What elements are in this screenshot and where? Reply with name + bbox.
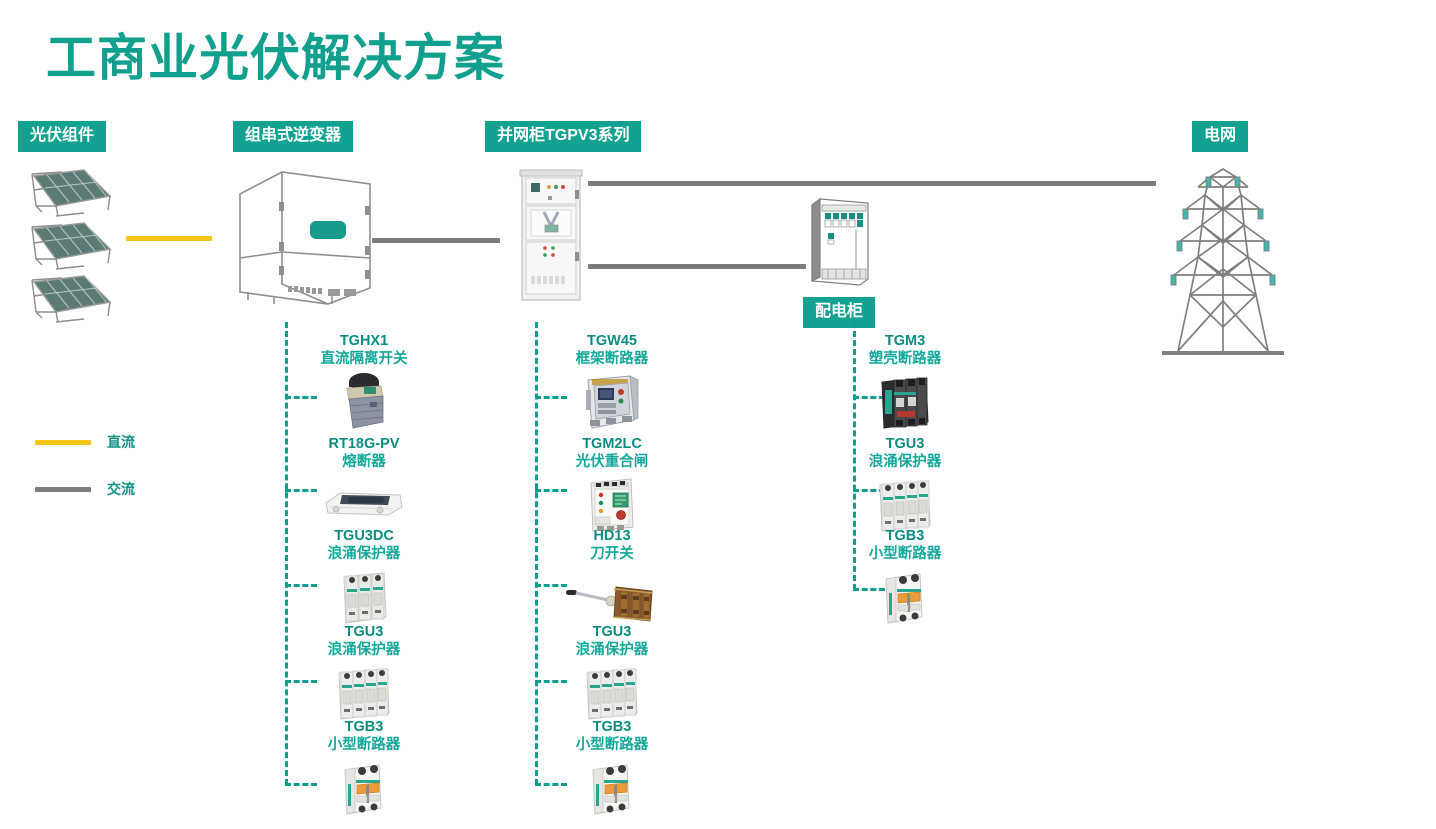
legend-item-ac: 交流 bbox=[35, 479, 135, 499]
component-model: TGB3 bbox=[284, 718, 444, 736]
component-desc: 浪涌保护器 bbox=[284, 545, 444, 563]
legend-label-ac: 交流 bbox=[107, 479, 135, 499]
stage-badge-grid-cabinet: 并网柜TGPV3系列 bbox=[485, 121, 641, 152]
component-desc: 小型断路器 bbox=[284, 736, 444, 754]
component-hd13: HD13 刀开关 bbox=[532, 527, 692, 627]
stage-badge-string-inverter: 组串式逆变器 bbox=[233, 121, 353, 152]
component-tgu3-dc: TGU3 浪涌保护器 bbox=[284, 623, 444, 723]
component-desc: 小型断路器 bbox=[532, 736, 692, 754]
stage-badge-pv-modules: 光伏组件 bbox=[18, 121, 106, 152]
component-desc: 浪涌保护器 bbox=[825, 453, 985, 471]
component-rt18g-pv: RT18G-PV 熔断器 bbox=[284, 435, 444, 535]
component-model: TGB3 bbox=[532, 718, 692, 736]
pv-array-1 bbox=[22, 166, 114, 226]
spd-4p-icon bbox=[284, 661, 444, 723]
flow-line-ac-inverter-to-cabinet bbox=[372, 238, 500, 243]
component-tgu3-ac: TGU3 浪涌保护器 bbox=[532, 623, 692, 723]
spd-4p-icon bbox=[825, 473, 985, 535]
component-desc: 光伏重合闸 bbox=[532, 453, 692, 471]
component-model: TGU3 bbox=[825, 435, 985, 453]
mcb-2p-icon bbox=[532, 756, 692, 818]
rotary-isolator-icon bbox=[284, 370, 444, 432]
pv-array-2 bbox=[22, 219, 114, 279]
component-desc: 直流隔离开关 bbox=[284, 350, 444, 368]
flow-line-ac-cabinet-to-grid bbox=[588, 181, 1156, 186]
tgpv3-cabinet-unit bbox=[518, 168, 584, 307]
component-model: TGHX1 bbox=[284, 332, 444, 350]
flow-line-ac-cabinet-to-distribution bbox=[588, 264, 806, 269]
component-tgm3: TGM3 塑壳断路器 bbox=[825, 332, 985, 432]
component-model: TGU3DC bbox=[284, 527, 444, 545]
mcb-2p-icon bbox=[284, 756, 444, 818]
flow-line-dc-panels-to-inverter bbox=[126, 236, 212, 241]
mcb-2p-icon bbox=[825, 565, 985, 627]
component-tgb3-ac: TGB3 小型断路器 bbox=[532, 718, 692, 818]
transmission-tower bbox=[1160, 165, 1286, 365]
recloser-icon bbox=[532, 473, 692, 535]
component-desc: 浪涌保护器 bbox=[532, 641, 692, 659]
string-inverter-unit bbox=[232, 166, 376, 313]
component-model: TGB3 bbox=[825, 527, 985, 545]
knife-switch-icon bbox=[532, 565, 692, 627]
stage-badge-distribution-cabinet: 配电柜 bbox=[803, 297, 875, 328]
pv-array-3 bbox=[22, 272, 114, 332]
legend-label-dc: 直流 bbox=[107, 432, 135, 452]
component-tgu3dc: TGU3DC 浪涌保护器 bbox=[284, 527, 444, 627]
component-tgm2lc: TGM2LC 光伏重合闸 bbox=[532, 435, 692, 535]
legend-swatch-ac bbox=[35, 487, 91, 492]
component-model: TGW45 bbox=[532, 332, 692, 350]
component-model: RT18G-PV bbox=[284, 435, 444, 453]
distribution-cabinet-unit bbox=[806, 195, 874, 292]
component-desc: 浪涌保护器 bbox=[284, 641, 444, 659]
page-title: 工商业光伏解决方案 bbox=[46, 18, 505, 90]
legend-item-dc: 直流 bbox=[35, 432, 135, 452]
component-desc: 刀开关 bbox=[532, 545, 692, 563]
spd-4p-icon bbox=[532, 661, 692, 723]
component-desc: 小型断路器 bbox=[825, 545, 985, 563]
component-model: TGM2LC bbox=[532, 435, 692, 453]
component-desc: 熔断器 bbox=[284, 453, 444, 471]
mccb-icon bbox=[825, 370, 985, 432]
component-model: TGU3 bbox=[284, 623, 444, 641]
spd-3p-icon bbox=[284, 565, 444, 627]
component-tgb3-dist: TGB3 小型断路器 bbox=[825, 527, 985, 627]
component-tgu3-dist: TGU3 浪涌保护器 bbox=[825, 435, 985, 535]
fuse-holder-icon bbox=[284, 473, 444, 535]
component-tgb3-dc: TGB3 小型断路器 bbox=[284, 718, 444, 818]
component-tgw45: TGW45 框架断路器 bbox=[532, 332, 692, 432]
component-desc: 框架断路器 bbox=[532, 350, 692, 368]
acb-icon bbox=[532, 370, 692, 432]
component-tghx1: TGHX1 直流隔离开关 bbox=[284, 332, 444, 432]
component-model: TGU3 bbox=[532, 623, 692, 641]
component-model: HD13 bbox=[532, 527, 692, 545]
component-model: TGM3 bbox=[825, 332, 985, 350]
stage-badge-power-grid: 电网 bbox=[1192, 121, 1248, 152]
component-desc: 塑壳断路器 bbox=[825, 350, 985, 368]
legend-swatch-dc bbox=[35, 440, 91, 445]
